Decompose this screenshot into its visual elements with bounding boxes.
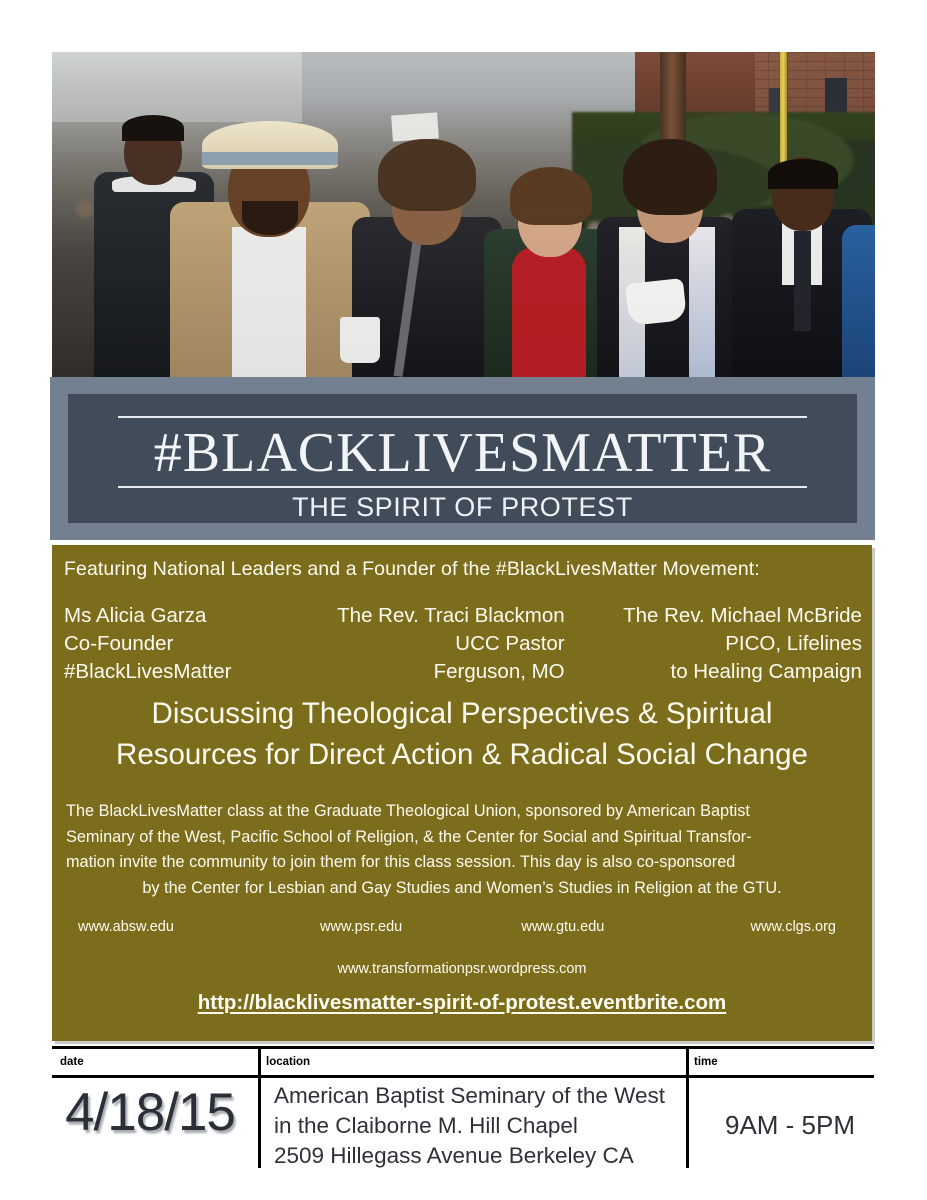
footer-divider-location-time [686, 1049, 689, 1168]
event-location-line2: in the Claiborne M. Hill Chapel [274, 1111, 665, 1141]
description-line1: The BlackLivesMatter class at the Gradua… [66, 799, 858, 825]
title-band-inner: #BLACKLIVESMATTER THE SPIRIT OF PROTEST [68, 394, 857, 523]
speaker-role: Co-Founder [64, 630, 327, 658]
title-rule-top [118, 416, 807, 418]
speaker-org: Ferguson, MO [327, 658, 564, 686]
description-line3: mation invite the community to join them… [66, 850, 858, 876]
footer-label-date: date [60, 1056, 84, 1068]
speakers-row: Ms Alicia Garza Co-Founder #BlackLivesMa… [64, 602, 862, 686]
session-headline-line1: Discussing Theological Perspectives & Sp… [66, 693, 858, 734]
speaker-name: The Rev. Traci Blackmon [327, 602, 564, 630]
footer-label-time: time [694, 1056, 718, 1068]
url-transformation-wordpress[interactable]: www.transformationpsr.wordpress.com [52, 961, 872, 977]
speaker-role: UCC Pastor [327, 630, 564, 658]
footer-divider-date-location [258, 1049, 261, 1168]
speaker-role: PICO, Lifelines [599, 630, 862, 658]
speaker-column-mcbride: The Rev. Michael McBride PICO, Lifelines… [599, 602, 862, 686]
description-line4: by the Center for Lesbian and Gay Studie… [66, 876, 858, 902]
event-time: 9AM - 5PM [700, 1110, 880, 1141]
url-absw[interactable]: www.absw.edu [74, 919, 260, 935]
session-headline-line2: Resources for Direct Action & Radical So… [66, 734, 858, 775]
speaker-org: to Healing Campaign [599, 658, 862, 686]
flyer-page: #BLACKLIVESMATTER THE SPIRIT OF PROTEST … [0, 0, 927, 1200]
page-subtitle: THE SPIRIT OF PROTEST [68, 492, 857, 523]
url-psr[interactable]: www.psr.edu [260, 919, 462, 935]
footer-rule-under-labels [52, 1075, 874, 1078]
event-location-line1: American Baptist Seminary of the West [274, 1081, 665, 1111]
speaker-column-garza: Ms Alicia Garza Co-Founder #BlackLivesMa… [64, 602, 327, 686]
url-gtu[interactable]: www.gtu.edu [462, 919, 664, 935]
photo-color-grade-overlay [52, 52, 875, 377]
title-rule-bottom [118, 486, 807, 488]
description-paragraph: The BlackLivesMatter class at the Gradua… [66, 799, 858, 901]
event-date: 4/18/15 [50, 1082, 250, 1143]
olive-content-block: Featuring National Leaders and a Founder… [52, 545, 872, 1041]
page-title: #BLACKLIVESMATTER [68, 422, 857, 484]
title-band-outer: #BLACKLIVESMATTER THE SPIRIT OF PROTEST [50, 377, 875, 540]
event-location-line3: 2509 Hillegass Avenue Berkeley CA [274, 1141, 665, 1171]
footer-rule-top [52, 1046, 874, 1049]
speaker-column-blackmon: The Rev. Traci Blackmon UCC Pastor Fergu… [327, 602, 598, 686]
speaker-name: Ms Alicia Garza [64, 602, 327, 630]
event-location: American Baptist Seminary of the West in… [274, 1081, 665, 1171]
url-eventbrite-registration[interactable]: http://blacklivesmatter-spirit-of-protes… [52, 991, 872, 1015]
session-headline: Discussing Theological Perspectives & Sp… [66, 693, 858, 775]
url-clgs[interactable]: www.clgs.org [664, 919, 850, 935]
featuring-line: Featuring National Leaders and a Founder… [64, 558, 760, 581]
speaker-name: The Rev. Michael McBride [599, 602, 862, 630]
description-line2: Seminary of the West, Pacific School of … [66, 825, 858, 851]
footer-label-location: location [266, 1056, 310, 1068]
speaker-org: #BlackLivesMatter [64, 658, 327, 686]
sponsor-urls-row: www.absw.edu www.psr.edu www.gtu.edu www… [74, 919, 850, 935]
protest-march-photo [52, 52, 875, 377]
